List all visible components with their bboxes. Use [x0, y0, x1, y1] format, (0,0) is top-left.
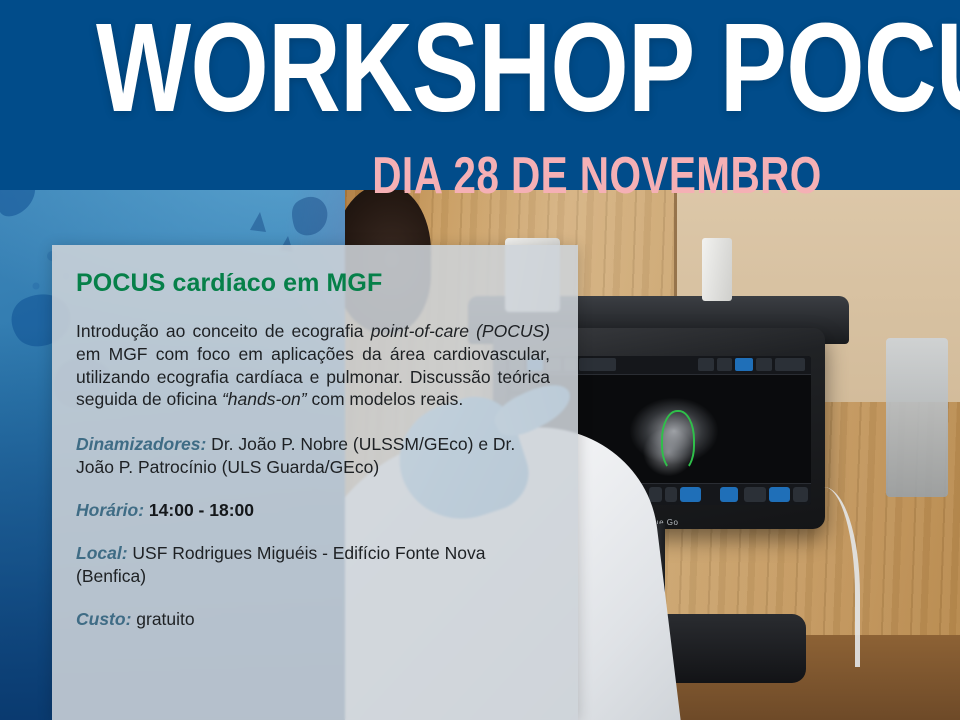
- field-value: gratuito: [131, 609, 194, 629]
- session-description: Introdução ao conceito de ecografia poin…: [76, 320, 550, 411]
- session-info-card: POCUS cardíaco em MGF Introdução ao conc…: [52, 245, 578, 720]
- ultrasound-probe: [702, 238, 733, 302]
- poster-subhead: DIA 28 DE NOVEMBRO: [106, 150, 855, 202]
- field-dinamizadores: Dinamizadores: Dr. João P. Nobre (ULSSM/…: [76, 433, 550, 479]
- header-band-left-fade: [0, 0, 60, 190]
- description-em-2: “hands-on”: [222, 389, 307, 409]
- field-local: Local: USF Rodrigues Miguéis - Edifício …: [76, 542, 550, 588]
- description-em-1: point-of-care (POCUS): [371, 321, 550, 341]
- field-custo: Custo: gratuito: [76, 608, 550, 631]
- field-label: Dinamizadores:: [76, 434, 206, 454]
- bed-rail: [886, 338, 948, 497]
- poster: Venue Go WORKSHOP POCUS DIA 28 DE NOVEMB…: [0, 0, 960, 720]
- field-label: Horário:: [76, 500, 144, 520]
- field-horario: Horário: 14:00 - 18:00: [76, 499, 550, 522]
- lv-endocardial-trace: [661, 410, 695, 472]
- session-title: POCUS cardíaco em MGF: [76, 269, 550, 298]
- poster-headline: WORKSHOP POCUS: [96, 10, 864, 126]
- description-seg-3: com modelos reais.: [307, 389, 464, 409]
- field-value: USF Rodrigues Miguéis - Edifício Fonte N…: [76, 543, 485, 586]
- field-value: 14:00 - 18:00: [144, 500, 254, 520]
- field-label: Custo:: [76, 609, 131, 629]
- description-seg-1: Introdução ao conceito de ecografia: [76, 321, 371, 341]
- field-label: Local:: [76, 543, 128, 563]
